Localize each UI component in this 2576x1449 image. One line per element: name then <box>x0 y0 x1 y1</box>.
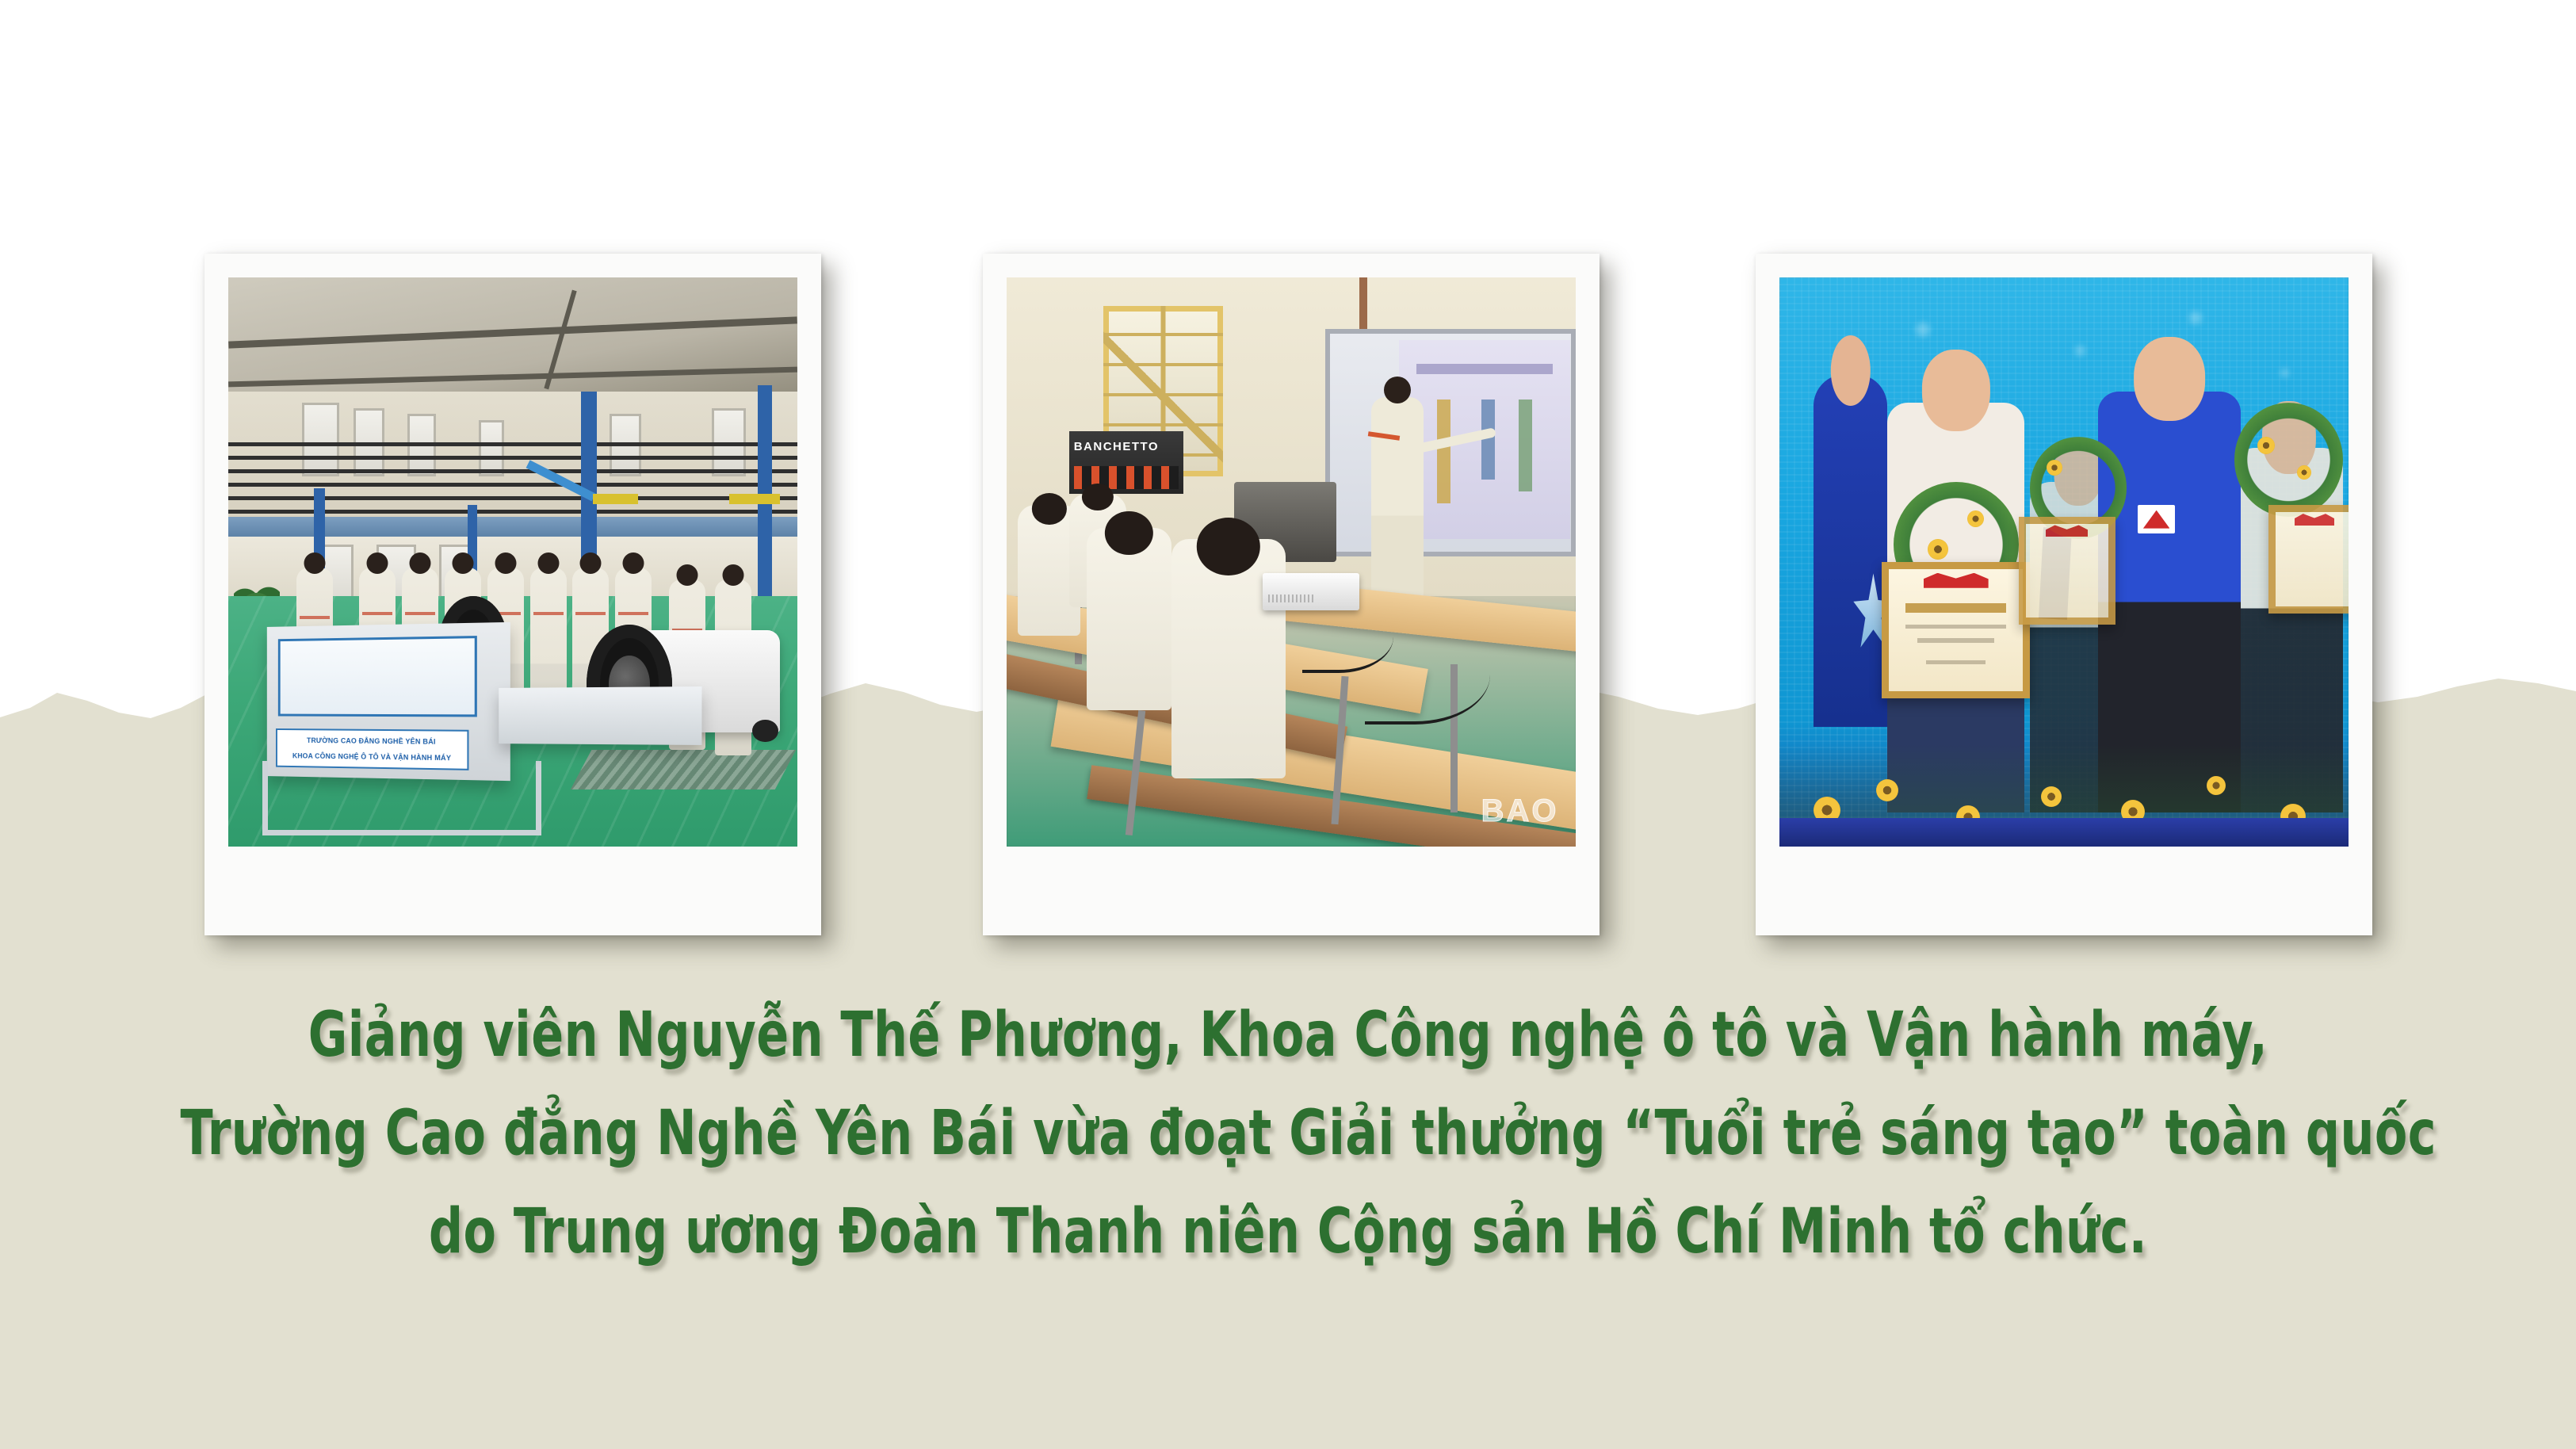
slide-title-bar <box>1416 364 1553 374</box>
caption-line-2: Trường Cao đẳng Nghề Yên Bái vừa đoạt Gi… <box>181 1084 2396 1183</box>
sunflower-icon <box>2207 776 2226 795</box>
certificate-text-line <box>1905 625 2006 629</box>
floor-drain-grate <box>571 750 797 789</box>
caption-line-1: Giảng viên Nguyễn Thế Phương, Khoa Công … <box>181 986 2396 1084</box>
certificate-background <box>2019 517 2115 625</box>
stage-edge <box>1779 818 2349 847</box>
rig-label-line1: TRƯỜNG CAO ĐẲNG NGHỀ YÊN BÁI <box>292 736 451 745</box>
polaroid-frame-classroom[interactable]: BANCHETTO BAO <box>983 254 1599 935</box>
caption-line-3: do Trung ương Đoàn Thanh niên Cộng sản H… <box>181 1183 2396 1281</box>
bokeh-light <box>2280 369 2289 377</box>
person-instructor <box>1371 397 1424 602</box>
slide-diagram-bar <box>1481 400 1495 480</box>
vehicle-lift-arm <box>593 494 638 504</box>
certificate-text-line <box>1917 638 1994 642</box>
certificate-main[interactable] <box>1882 562 2030 698</box>
projector <box>1263 573 1359 610</box>
youth-union-badge-icon <box>2138 505 2175 533</box>
rig-control-panel <box>278 636 476 717</box>
photo-award <box>1779 277 2349 847</box>
slide-diagram-bar <box>1437 400 1450 503</box>
polaroid-frame-workshop[interactable]: TRƯỜNG CAO ĐẲNG NGHỀ YÊN BÁI KHOA CÔNG N… <box>204 254 821 935</box>
watermark: BAO <box>1481 793 1559 829</box>
rig-trolley-legs <box>262 761 541 835</box>
banchetto-test-bench: BANCHETTO <box>1069 431 1183 494</box>
caption-block: Giảng viên Nguyễn Thế Phương, Khoa Công … <box>0 986 2576 1281</box>
photo-workshop: TRƯỜNG CAO ĐẲNG NGHỀ YÊN BÁI KHOA CÔNG N… <box>228 277 797 847</box>
sunflower-icon <box>2041 786 2062 807</box>
sunflower-icon <box>1928 539 1948 560</box>
certificate-emblem-icon <box>1924 573 1989 588</box>
vehicle-lift-arm <box>729 494 781 504</box>
certificate-text-line <box>1926 660 1986 664</box>
photo-strip: TRƯỜNG CAO ĐẲNG NGHỀ YÊN BÁI KHOA CÔNG N… <box>0 0 2576 983</box>
power-cable <box>1365 642 1490 725</box>
person-student-seated <box>1087 528 1172 710</box>
banchetto-brand-label: BANCHETTO <box>1074 440 1159 453</box>
rig-bench-extension <box>499 686 703 745</box>
certificate-background <box>2268 505 2349 613</box>
slide-diagram-bar <box>1519 400 1532 491</box>
person-hostess-aodai <box>1814 374 1887 727</box>
sunflower-icon <box>2257 437 2275 454</box>
bokeh-light <box>2189 312 2202 324</box>
certificate-emblem-icon <box>2046 525 2089 537</box>
certificate-emblem-icon <box>2295 514 2335 526</box>
sunflower-icon <box>1876 779 1898 801</box>
certificate-title-band <box>1905 603 2006 613</box>
training-rig[interactable]: TRƯỜNG CAO ĐẲNG NGHỀ YÊN BÁI KHOA CÔNG N… <box>267 622 510 781</box>
polaroid-frame-award[interactable] <box>1756 254 2372 935</box>
photo-classroom: BANCHETTO BAO <box>1007 277 1576 847</box>
flower-garland <box>2234 403 2342 517</box>
projected-slide <box>1399 340 1569 539</box>
